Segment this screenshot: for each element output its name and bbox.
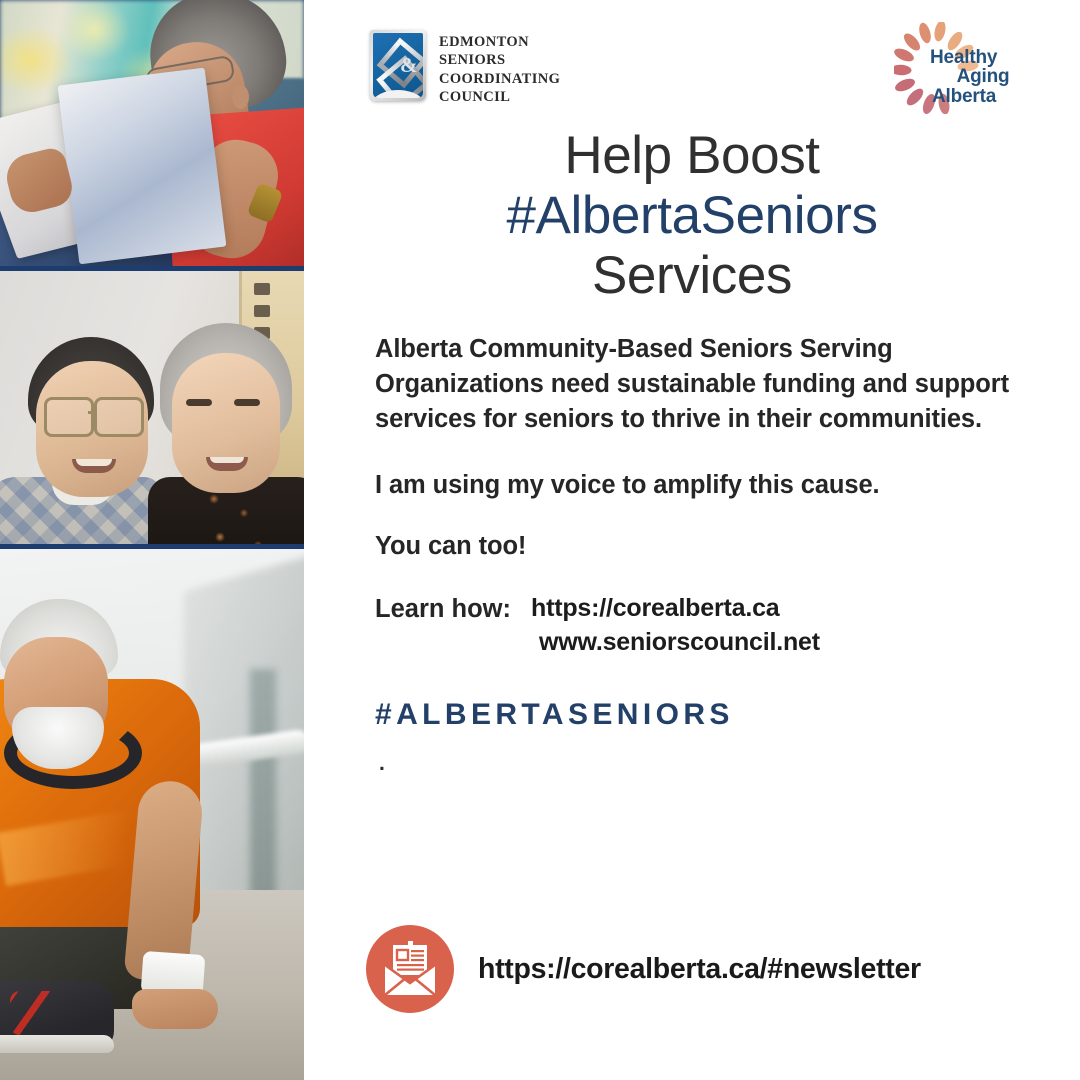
healthy-aging-alberta-logo: Healthy Aging Alberta — [894, 22, 1018, 120]
photo-3-canvas — [0, 549, 304, 1080]
escc-wordmark: EDMONTON SENIORS COORDINATING COUNCIL — [439, 30, 560, 106]
logo-row: & EDMONTON SENIORS COORDINATING COUNCIL — [304, 0, 1080, 130]
body-copy: Alberta Community-Based Seniors Serving … — [375, 332, 1065, 776]
photo-1-canvas — [0, 0, 304, 266]
newsletter-link[interactable]: https://corealberta.ca/#newsletter — [478, 953, 921, 986]
link-corealberta[interactable]: https://corealberta.ca — [531, 594, 820, 623]
newsletter-envelope-icon[interactable] — [366, 925, 454, 1013]
learn-how-links: https://corealberta.ca www.seniorscounci… — [531, 594, 820, 657]
page-title: Help Boost #AlbertaSeniors Services — [304, 126, 1080, 306]
photo-2-man-glasses-bridge — [88, 411, 96, 414]
paragraph-mission: Alberta Community-Based Seniors Serving … — [375, 332, 1065, 438]
photo-strip — [0, 0, 304, 1080]
haa-line-2: Aging — [930, 67, 1022, 86]
healthy-aging-alberta-wordmark: Healthy Aging Alberta — [930, 48, 1022, 106]
escc-shield-icon: & — [370, 30, 426, 101]
photo-senior-man-pushups — [0, 549, 304, 1080]
envelope-glyph-icon — [366, 925, 454, 1013]
haa-line-1: Healthy — [930, 48, 1022, 67]
content-panel: & EDMONTON SENIORS COORDINATING COUNCIL — [304, 0, 1080, 1080]
haa-line-3: Alberta — [930, 87, 1022, 106]
escc-line-2: SENIORS — [439, 51, 560, 69]
photo-1-ear — [232, 85, 249, 109]
photo-2-man-glasses-left — [44, 397, 94, 437]
escc-line-3: COORDINATING — [439, 70, 560, 88]
photo-senior-woman-reading-magazine — [0, 0, 304, 271]
headline-line-1: Help Boost — [304, 126, 1080, 186]
escc-shield-face: & — [373, 33, 423, 98]
photo-senior-couple-smiling — [0, 271, 304, 549]
paragraph-call-to-action: You can too! — [375, 529, 1065, 564]
newsletter-row[interactable]: https://corealberta.ca/#newsletter — [366, 925, 921, 1013]
edmonton-seniors-coordinating-council-logo: & EDMONTON SENIORS COORDINATING COUNCIL — [370, 30, 560, 106]
photo-3-hand — [132, 989, 218, 1029]
photo-2-man-teeth — [76, 459, 112, 466]
photo-2-man-glasses-right — [94, 397, 144, 437]
paragraph-voice: I am using my voice to amplify this caus… — [375, 468, 1065, 503]
photo-3-shoe-sole — [0, 1035, 114, 1053]
poster-canvas: & EDMONTON SENIORS COORDINATING COUNCIL — [0, 0, 1080, 1080]
photo-3-shoe-stripes — [10, 991, 102, 1035]
escc-line-1: EDMONTON — [439, 33, 560, 51]
escc-line-4: COUNCIL — [439, 88, 560, 106]
learn-how-label: Learn how: — [375, 594, 511, 624]
hashtag-albertaseniors: #ALBERTASENIORS — [375, 698, 1065, 732]
photo-3-railing-post — [250, 669, 276, 919]
link-seniorscouncil[interactable]: www.seniorscouncil.net — [531, 628, 820, 657]
photo-2-woman-eye-right — [234, 399, 260, 406]
photo-2-woman-face — [172, 353, 280, 493]
photo-1-magazine-right-page — [58, 68, 227, 265]
photo-2-canvas — [0, 271, 304, 544]
photo-2-woman-eye-left — [186, 399, 212, 406]
headline-hashtag-line: #AlbertaSeniors — [304, 186, 1080, 246]
trailing-dot: . — [375, 752, 1065, 776]
headline-line-3: Services — [304, 246, 1080, 306]
learn-how-row: Learn how: https://corealberta.ca www.se… — [375, 594, 1065, 657]
photo-2-woman-teeth — [210, 457, 244, 463]
escc-ampersand-icon: & — [400, 55, 418, 76]
